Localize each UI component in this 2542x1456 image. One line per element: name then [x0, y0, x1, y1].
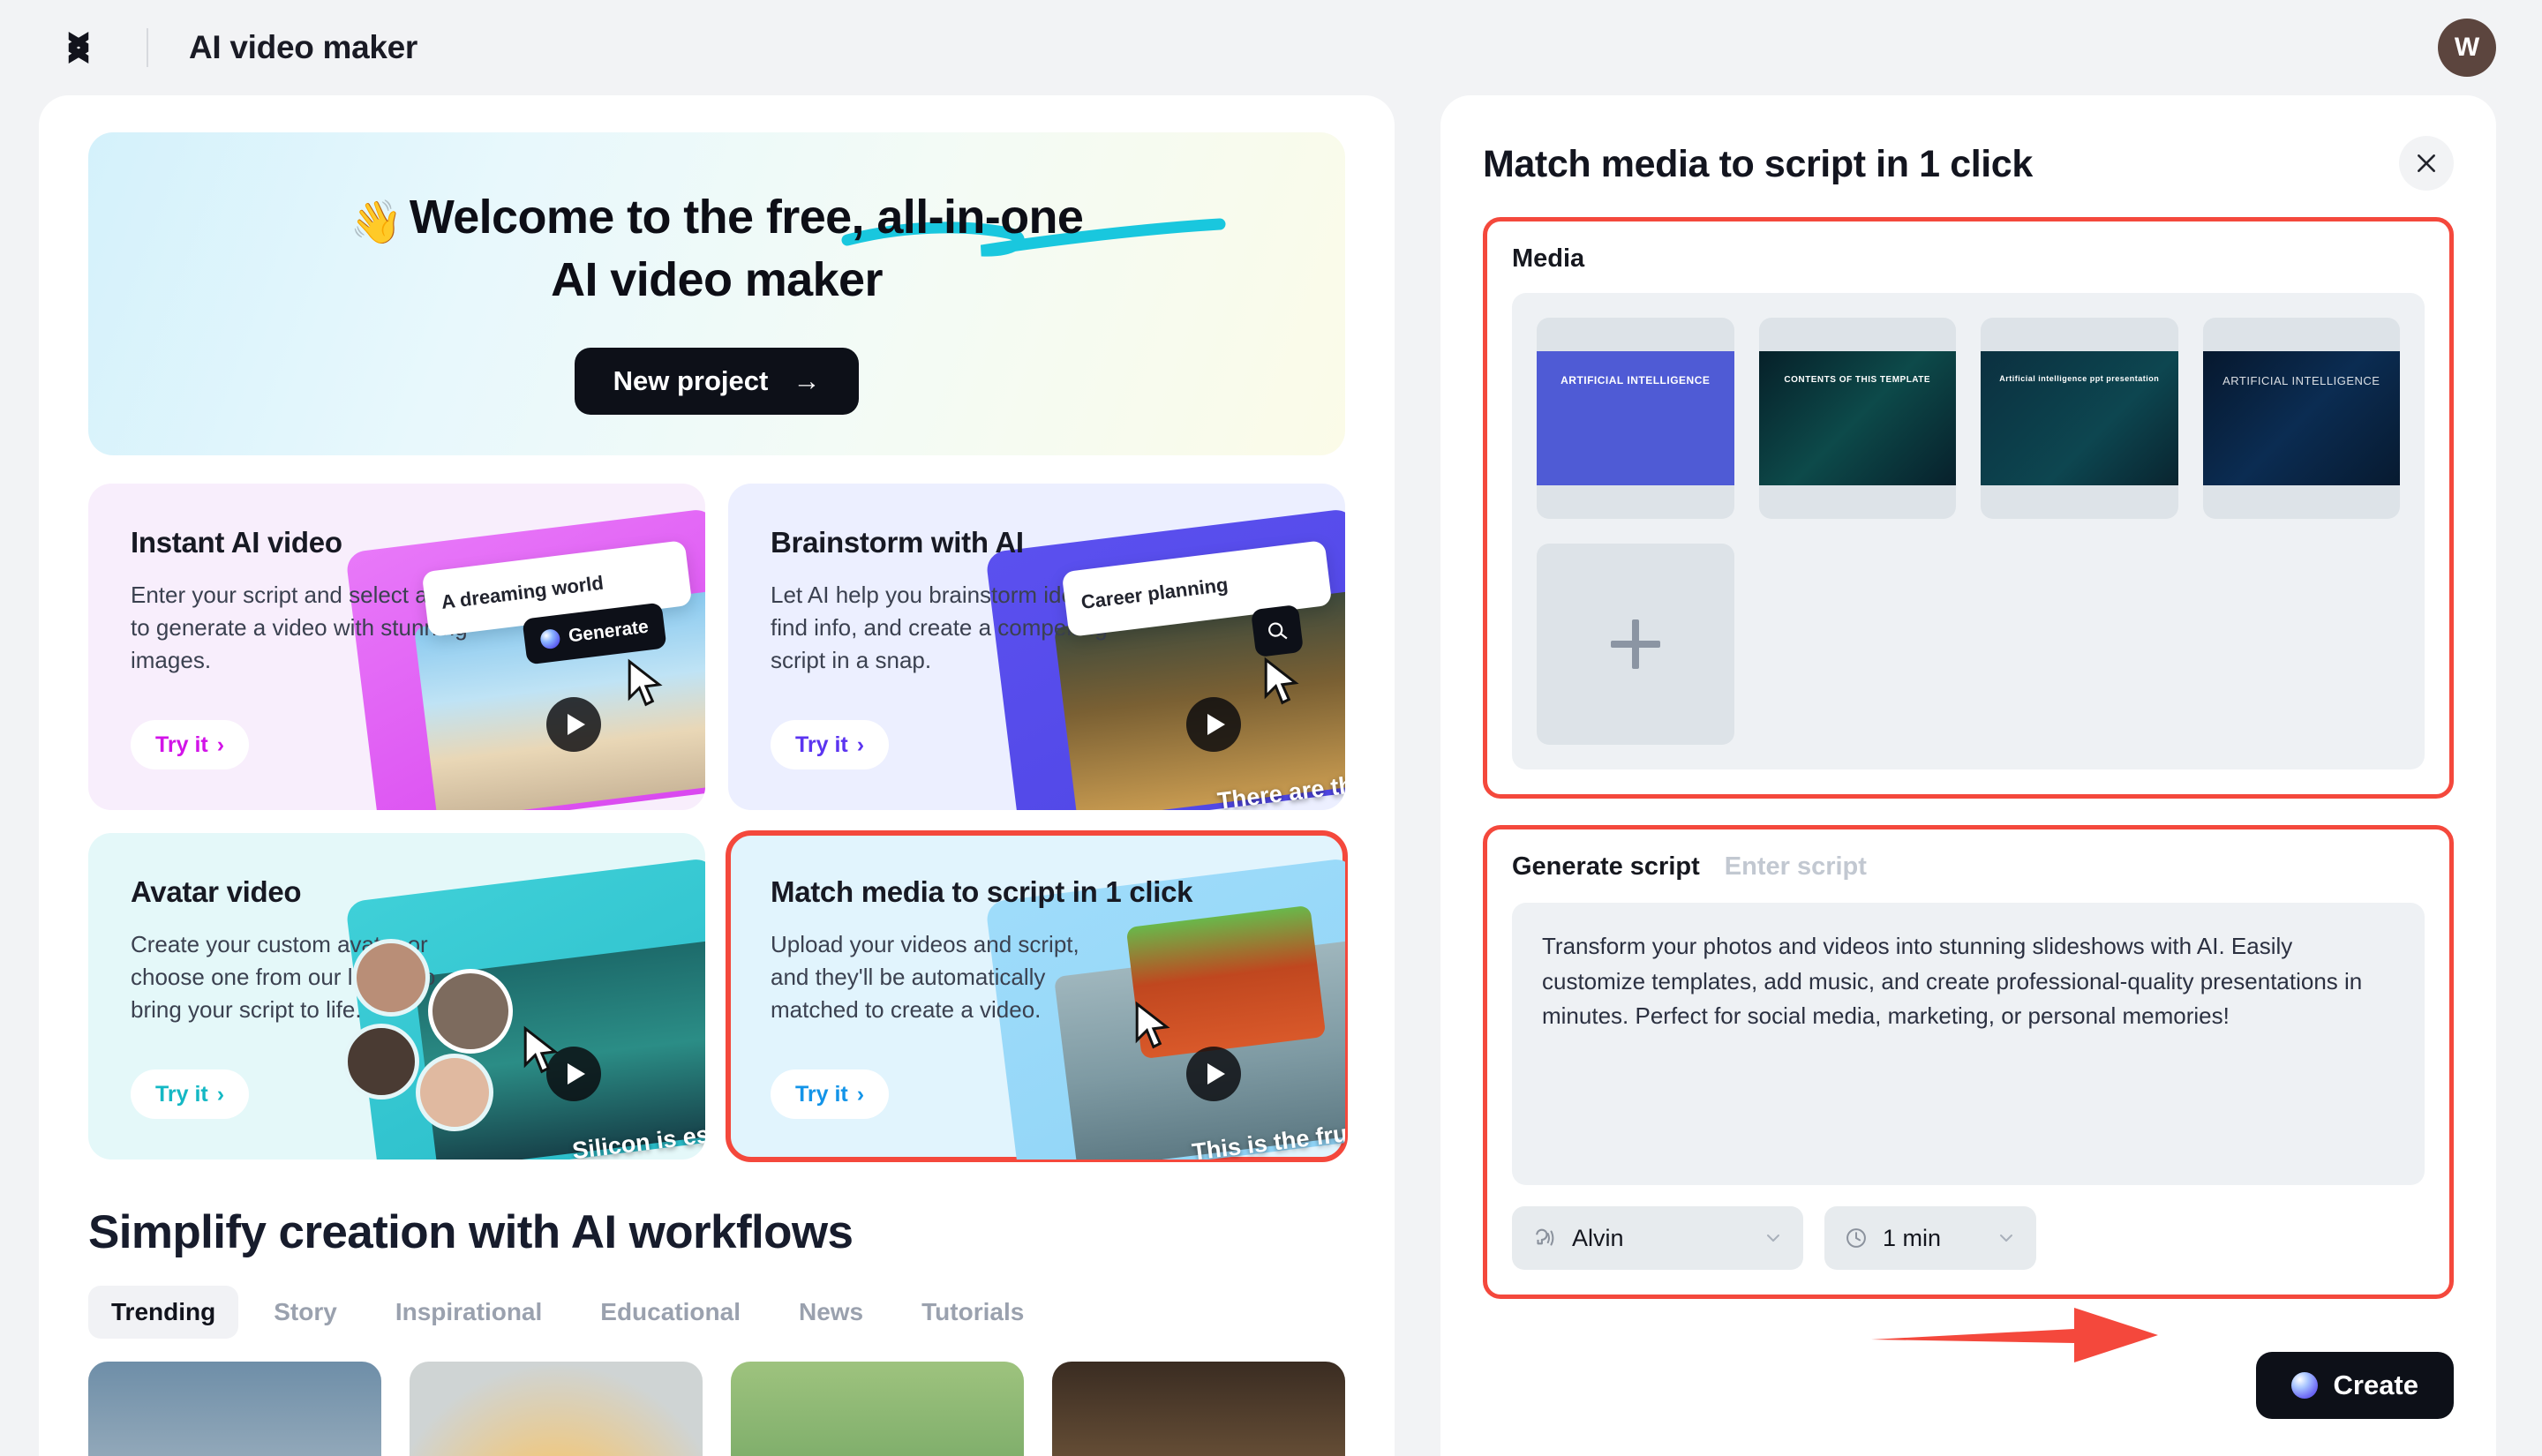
panel-title: Match media to script in 1 click: [1483, 136, 2033, 186]
feature-card-match-media-to-script[interactable]: This is the fruit Match media to script …: [728, 833, 1345, 1160]
try-it-label: Try it: [795, 732, 848, 758]
workflows-tabs: Trending Story Inspirational Educational…: [88, 1286, 1345, 1339]
media-thumbnail-caption: ARTIFICIAL INTELLIGENCE: [2203, 351, 2401, 389]
card-mini-input-text: Career planning: [1079, 574, 1229, 614]
media-grid: ARTIFICIAL INTELLIGENCE CONTENTS OF THIS…: [1512, 293, 2425, 769]
media-thumbnail: ARTIFICIAL INTELLIGENCE: [2203, 351, 2401, 485]
tab-news[interactable]: News: [776, 1286, 886, 1339]
feature-cards-grid: A dreaming world Generate Instant AI vid…: [88, 484, 1345, 1160]
cursor-pointer-icon: [520, 1025, 560, 1075]
close-button[interactable]: [2399, 136, 2454, 191]
media-tile[interactable]: ARTIFICIAL INTELLIGENCE: [1537, 318, 1734, 519]
new-project-button[interactable]: New project →: [575, 348, 860, 415]
avatar-bubble: [352, 939, 430, 1017]
play-icon: [1186, 1047, 1241, 1101]
arrow-right-icon: →: [793, 365, 820, 397]
tab-inspirational[interactable]: Inspirational: [372, 1286, 565, 1339]
card-mini-input-text: A dreaming world: [440, 572, 605, 614]
script-section: Generate script Enter script Transform y…: [1483, 825, 2454, 1299]
card-generate-label: Generate: [568, 617, 650, 648]
media-tile[interactable]: CONTENTS OF THIS TEMPLATE: [1759, 318, 1957, 519]
tab-story[interactable]: Story: [251, 1286, 360, 1339]
media-thumbnail-caption: ARTIFICIAL INTELLIGENCE: [1537, 351, 1734, 388]
tab-tutorials[interactable]: Tutorials: [899, 1286, 1047, 1339]
try-it-label: Try it: [155, 732, 208, 758]
media-thumbnail: ARTIFICIAL INTELLIGENCE: [1537, 351, 1734, 485]
workflow-thumbnail-row: [88, 1362, 1345, 1456]
media-thumbnail-caption: Artificial intelligence ppt presentation: [1981, 351, 2178, 385]
script-controls: Alvin 1 min: [1512, 1206, 2425, 1270]
hero-title-line1-a: Welcome to the: [410, 191, 766, 244]
feature-card-description: Upload your videos and script, and they'…: [771, 928, 1124, 1026]
tab-educational[interactable]: Educational: [577, 1286, 763, 1339]
play-icon: [1186, 697, 1241, 752]
chevron-down-icon: [1996, 1227, 2017, 1249]
play-icon: [546, 697, 601, 752]
add-media-button[interactable]: [1537, 544, 1734, 745]
match-media-panel: Match media to script in 1 click Media A…: [1440, 95, 2496, 1456]
try-it-button-instant-ai-video[interactable]: Try it ›: [131, 720, 249, 769]
workflows-heading: Simplify creation with AI workflows: [88, 1205, 1345, 1259]
chevron-right-icon: ›: [857, 732, 864, 758]
clock-icon: [1844, 1226, 1869, 1250]
try-it-button-avatar-video[interactable]: Try it ›: [131, 1069, 249, 1119]
welcome-hero-banner: 👋Welcome to the free, all-in-one AI vide…: [88, 132, 1345, 455]
try-it-button-brainstorm-with-ai[interactable]: Try it ›: [771, 720, 889, 769]
new-project-label: New project: [613, 365, 769, 397]
chevron-right-icon: ›: [217, 732, 224, 758]
avatar-bubble: [343, 1024, 419, 1100]
ai-orb-icon: [539, 628, 561, 650]
main-content-panel: 👋Welcome to the free, all-in-one AI vide…: [39, 95, 1395, 1456]
create-label: Create: [2334, 1370, 2419, 1401]
create-button[interactable]: Create: [2256, 1352, 2455, 1419]
feature-card-title: Match media to script in 1 click: [771, 875, 1345, 909]
tab-generate-script[interactable]: Generate script: [1512, 852, 1700, 882]
panel-footer: Create: [1483, 1352, 2454, 1419]
voice-icon: [1531, 1225, 1558, 1251]
plus-icon: [1611, 619, 1660, 669]
voice-value: Alvin: [1572, 1225, 1624, 1252]
feature-card-instant-ai-video[interactable]: A dreaming world Generate Instant AI vid…: [88, 484, 705, 810]
media-thumbnail-caption: CONTENTS OF THIS TEMPLATE: [1759, 351, 1957, 386]
tab-enter-script[interactable]: Enter script: [1725, 852, 1867, 882]
workflow-thumbnail[interactable]: [88, 1362, 381, 1456]
top-bar: AI video maker W: [0, 0, 2542, 95]
try-it-label: Try it: [795, 1082, 848, 1107]
media-thumbnail: CONTENTS OF THIS TEMPLATE: [1759, 351, 1957, 485]
hero-title-line2: AI video maker: [551, 253, 883, 306]
try-it-button-match-media[interactable]: Try it ›: [771, 1069, 889, 1119]
script-textarea[interactable]: Transform your photos and videos into st…: [1512, 903, 2425, 1185]
voice-select[interactable]: Alvin: [1512, 1206, 1803, 1270]
cursor-pointer-icon: [1260, 657, 1301, 706]
workflow-thumbnail[interactable]: [1052, 1362, 1345, 1456]
panel-header: Match media to script in 1 click: [1483, 136, 2454, 191]
card-search-button: [1251, 604, 1304, 657]
close-icon: [2415, 152, 2438, 175]
feature-card-avatar-video[interactable]: Silicon is ess Avatar video Create your …: [88, 833, 705, 1160]
wave-emoji-icon: 👋: [350, 199, 402, 246]
hero-title-line1-b: free, all-in-one: [766, 191, 1083, 244]
chevron-right-icon: ›: [217, 1082, 224, 1107]
script-tabs: Generate script Enter script: [1512, 852, 2425, 882]
header-divider: [147, 28, 148, 67]
media-section: Media ARTIFICIAL INTELLIGENCE CONTENTS O…: [1483, 217, 2454, 799]
annotation-arrow-icon: [1871, 1294, 2162, 1373]
workflow-thumbnail[interactable]: [731, 1362, 1024, 1456]
duration-value: 1 min: [1883, 1225, 1941, 1252]
capcut-logo-icon[interactable]: [55, 24, 102, 71]
try-it-label: Try it: [155, 1082, 208, 1107]
chevron-right-icon: ›: [857, 1082, 864, 1107]
workflow-thumbnail[interactable]: [410, 1362, 703, 1456]
avatar-initial: W: [2455, 33, 2479, 63]
media-tile[interactable]: Artificial intelligence ppt presentation: [1981, 318, 2178, 519]
duration-select[interactable]: 1 min: [1824, 1206, 2036, 1270]
cursor-pointer-icon: [624, 658, 665, 708]
feature-card-brainstorm-with-ai[interactable]: Career planning There are thr Brainstorm…: [728, 484, 1345, 810]
media-thumbnail: Artificial intelligence ppt presentation: [1981, 351, 2178, 485]
tab-trending[interactable]: Trending: [88, 1286, 238, 1339]
avatar-bubble: [428, 969, 513, 1054]
search-icon: [1265, 619, 1290, 644]
ai-orb-icon: [2291, 1372, 2318, 1399]
media-tile[interactable]: ARTIFICIAL INTELLIGENCE: [2203, 318, 2401, 519]
media-section-label: Media: [1512, 244, 2425, 274]
avatar[interactable]: W: [2438, 19, 2496, 77]
feature-card-title: Avatar video: [131, 875, 705, 909]
cursor-pointer-icon: [1132, 1001, 1172, 1050]
avatar-bubble: [416, 1054, 493, 1131]
hero-title: 👋Welcome to the free, all-in-one AI vide…: [350, 187, 1084, 311]
page-title: AI video maker: [189, 29, 417, 66]
chevron-down-icon: [1763, 1227, 1784, 1249]
